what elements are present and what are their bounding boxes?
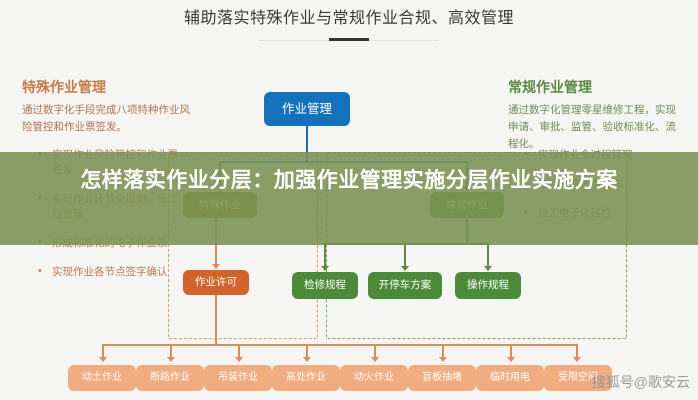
headline-overlay-text: 怎样落实作业分层：加强作业管理实施分层作业实施方案	[0, 164, 698, 197]
connector-to-op-4	[374, 344, 376, 358]
node-root-work-management[interactable]: 作业管理	[264, 92, 350, 126]
arrow-to-permit	[212, 264, 220, 269]
special-work-panel-description: 通过数字化手段完成八项特种作业风险管控和作业票签发。	[22, 102, 190, 136]
node-operation-temporary-power[interactable]: 临时用电	[476, 365, 544, 391]
infographic-canvas: 辅助落实特殊作业与常规作业合规、高效管理 作业管理 特殊作业 常规作业 作业许可	[0, 0, 698, 400]
connector-to-op-6	[510, 344, 512, 358]
arrow-to-op-6	[507, 357, 515, 362]
routine-work-panel-description: 通过数字化管理零星维修工程，实现申请、审批、监管、验收标准化、流程化。	[508, 102, 676, 153]
arrow-to-op-5	[439, 357, 447, 362]
connector-to-op-2	[238, 344, 240, 358]
page-title: 辅助落实特殊作业与常规作业合规、高效管理	[0, 4, 698, 28]
arrow-to-op-7	[573, 357, 581, 362]
node-operation-hot-work[interactable]: 动火作业	[340, 365, 408, 391]
arrow-to-proc-1	[401, 266, 409, 271]
arrow-to-op-0	[99, 357, 107, 362]
node-procedure-maintenance[interactable]: 检修规程	[292, 272, 358, 299]
title-divider-accent	[329, 38, 369, 41]
arrow-to-proc-0	[321, 266, 329, 271]
arrow-to-op-4	[371, 357, 379, 362]
connector-operations-bus	[102, 344, 577, 346]
node-work-permit[interactable]: 作业许可	[183, 270, 249, 295]
node-procedure-operation[interactable]: 操作规程	[455, 272, 521, 299]
connector-to-proc-1	[404, 243, 406, 267]
arrow-to-op-2	[235, 357, 243, 362]
connector-to-op-1	[170, 344, 172, 358]
connector-to-op-3	[306, 344, 308, 358]
connector-to-op-7	[576, 344, 578, 358]
connector-to-proc-0	[324, 243, 326, 267]
arrow-to-proc-2	[484, 266, 492, 271]
special-work-panel: 特殊作业管理 通过数字化手段完成八项特种作业风险管控和作业票签发。	[22, 78, 190, 136]
node-procedure-startup-shutdown[interactable]: 开停车方案	[368, 272, 442, 299]
routine-work-panel-title: 常规作业管理	[508, 78, 676, 96]
node-operation-working-at-height[interactable]: 高处作业	[272, 365, 340, 391]
node-operation-hoisting[interactable]: 吊装作业	[204, 365, 272, 391]
list-item: 实现作业各节点签字确认	[38, 265, 188, 280]
special-work-panel-title: 特殊作业管理	[22, 78, 190, 96]
arrow-to-op-1	[167, 357, 175, 362]
connector-to-op-5	[442, 344, 444, 358]
arrow-to-op-3	[303, 357, 311, 362]
connector-permit-stem	[215, 295, 217, 345]
node-operation-blind-plate[interactable]: 盲板抽堵	[408, 365, 476, 391]
routine-work-panel: 常规作业管理 通过数字化管理零星维修工程，实现申请、审批、监管、验收标准化、流程…	[508, 78, 676, 153]
node-operation-road-closure[interactable]: 断路作业	[136, 365, 204, 391]
connector-to-op-0	[102, 344, 104, 358]
connector-to-proc-2	[487, 243, 489, 267]
node-operation-earthwork[interactable]: 动土作业	[68, 365, 136, 391]
watermark-label: 搜狐号@歌安云	[592, 372, 690, 392]
